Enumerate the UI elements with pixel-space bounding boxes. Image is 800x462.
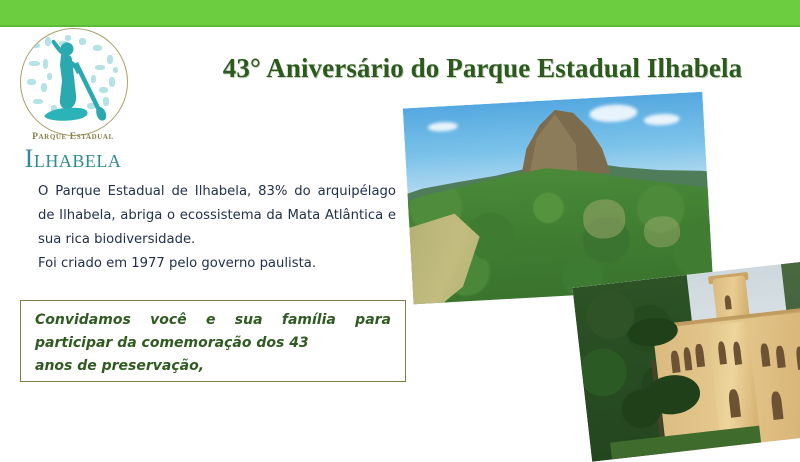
invitation-text: Convidamos você e sua família para parti… xyxy=(35,309,391,378)
park-logo: Parque Estadual Ilhabela xyxy=(6,28,140,173)
paddleboarder-silhouette-icon xyxy=(21,29,127,135)
intro-paragraph: O Parque Estadual de Ilhabela, 83% do ar… xyxy=(38,180,396,276)
invitation-line-2: participar da comemoração dos 43 xyxy=(35,335,309,351)
paddleboarder-circle-icon xyxy=(20,28,128,136)
mountain-peak-photo xyxy=(403,92,713,304)
invitation-box: Convidamos você e sua família para parti… xyxy=(20,300,406,382)
invitation-line-3: anos de preservação, xyxy=(35,355,391,378)
intro-line-4: Foi criado em 1977 pelo governo paulista… xyxy=(38,252,396,276)
page-title: 43° Aniversário do Parque Estadual Ilhab… xyxy=(170,53,795,84)
logo-subtitle: Parque Estadual xyxy=(6,132,140,142)
intro-line-1: O Parque Estadual de Ilhabela, 83% do xyxy=(38,184,311,199)
top-green-bar xyxy=(0,0,800,27)
logo-name: Ilhabela xyxy=(6,144,140,174)
historic-mansion-photo xyxy=(572,260,800,462)
invitation-line-1: Convidamos você e sua família para xyxy=(35,312,391,328)
